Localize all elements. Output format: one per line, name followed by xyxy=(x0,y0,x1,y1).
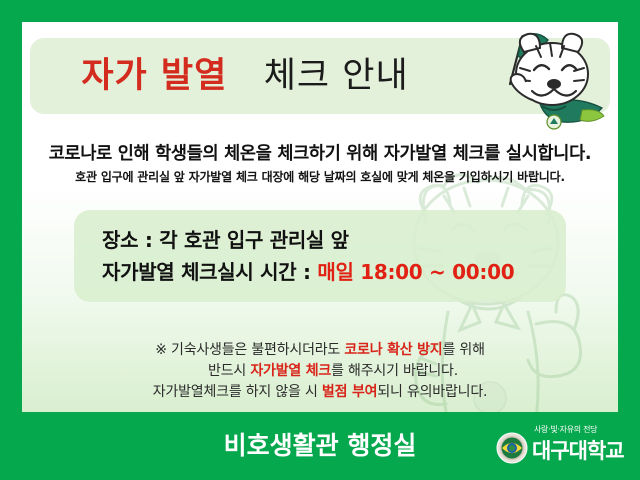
info-time-label: 자가발열 체크실시 시간 : xyxy=(102,260,317,284)
info-time-value: 매일 18:00 ~ 00:00 xyxy=(317,260,514,284)
note-line-3: 자가발열체크를 하지 않을 시 벌점 부여되니 유의바랍니다. xyxy=(22,382,618,403)
university-slogan: 사랑·빛·자유의 전당 xyxy=(534,424,597,435)
notes-block: ※ 기숙사생들은 불편하시더라도 코로나 확산 방지를 위해 반드시 자가발열 … xyxy=(22,340,618,403)
note-3-highlight: 벌점 부여 xyxy=(322,384,377,400)
info-place-label: 장소 : 각 호관 입구 관리실 앞 xyxy=(102,228,349,252)
headline-text: 코로나로 인해 학생들의 체온을 체크하기 위해 자가발열 체크를 실시합니다. xyxy=(22,140,618,165)
info-place-line: 장소 : 각 호관 입구 관리실 앞 xyxy=(102,224,566,256)
note-3-text-a: 자가발열체크를 하지 않을 시 xyxy=(153,384,322,400)
university-logo: 사랑·빛·자유의 전당 대구대학교 xyxy=(496,424,632,468)
note-2-highlight: 자가발열 체크 xyxy=(250,363,331,379)
note-line-2: 반드시 자가발열 체크를 해주시기 바랍니다. xyxy=(22,361,618,382)
info-box: 장소 : 각 호관 입구 관리실 앞 자가발열 체크실시 시간 : 매일 18:… xyxy=(74,210,566,302)
subheadline-text: 호관 입구에 관리실 앞 자가발열 체크 대장에 해당 날짜의 호실에 맞게 체… xyxy=(22,168,618,185)
note-2-text-b: 를 해주시기 바랍니다. xyxy=(331,363,458,379)
note-1-text-b: 를 위해 xyxy=(442,342,484,358)
page-title: 자가 발열 체크 안내 xyxy=(30,54,460,98)
university-seal-icon xyxy=(496,432,528,464)
note-2-text-a: 반드시 xyxy=(208,363,250,379)
poster-container: 자가 발열 체크 안내 xyxy=(0,0,640,480)
university-name: 대구대학교 xyxy=(532,435,624,465)
note-3-text-b: 되니 유의바랍니다. xyxy=(377,384,487,400)
title-red-part: 자가 발열 xyxy=(81,55,227,96)
footer-bar: 비호생활관 행정실 사랑·빛·자유의 전당 대구대학교 xyxy=(0,412,640,480)
note-1-text-a: ※ 기숙사생들은 불편하시더라도 xyxy=(155,342,344,358)
poster-canvas: 자가 발열 체크 안내 xyxy=(22,22,618,412)
info-time-line: 자가발열 체크실시 시간 : 매일 18:00 ~ 00:00 xyxy=(102,256,566,288)
tiger-mascot-with-flag-icon xyxy=(474,26,618,138)
note-1-highlight: 코로나 확산 방지 xyxy=(344,342,442,358)
note-line-1: ※ 기숙사생들은 불편하시더라도 코로나 확산 방지를 위해 xyxy=(22,340,618,361)
title-dark-part: 체크 안내 xyxy=(264,56,409,96)
